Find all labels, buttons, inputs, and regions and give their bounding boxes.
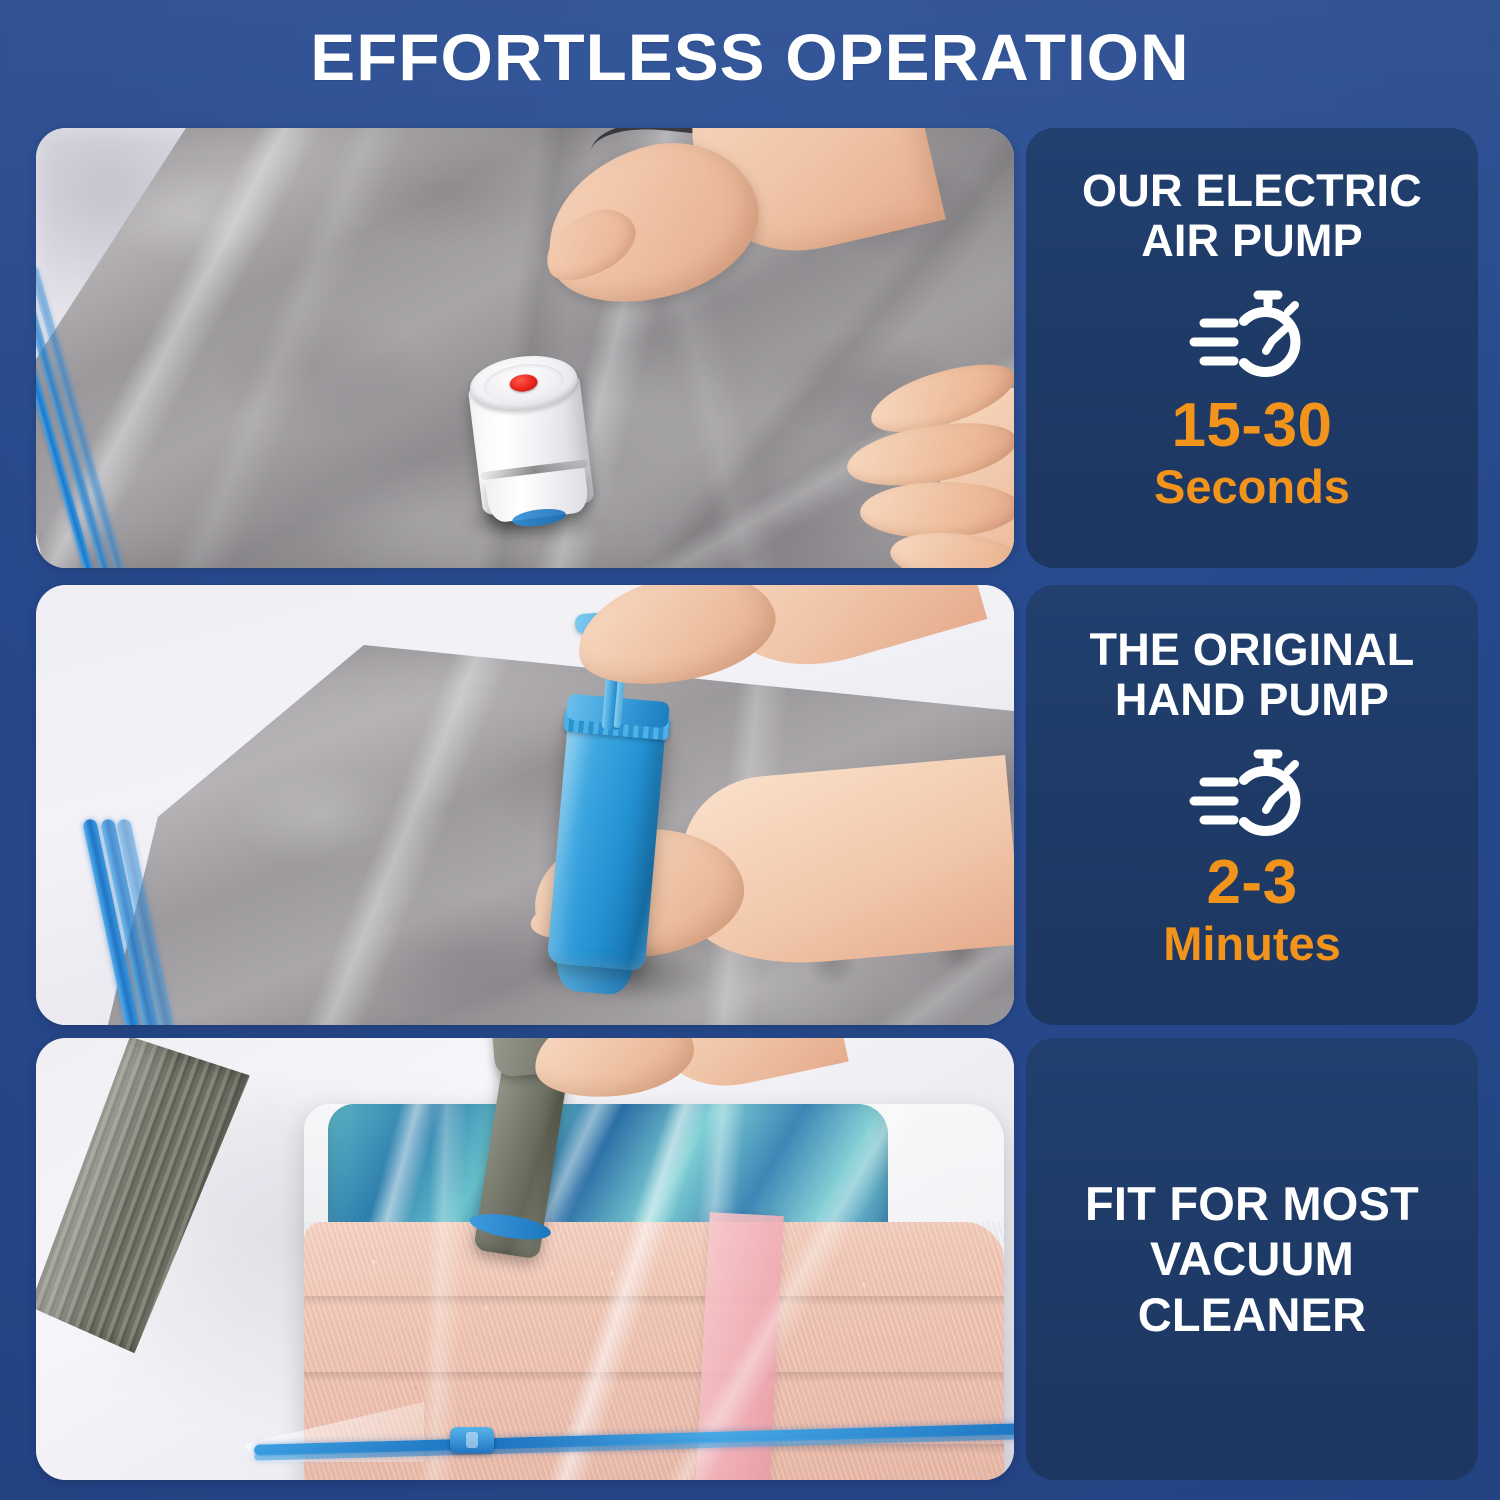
panel-heading-line-2: VACUUM <box>1150 1232 1354 1285</box>
palm <box>567 585 784 701</box>
pump-barrel <box>547 714 666 972</box>
operating-hand <box>544 128 844 378</box>
panel-heading-line-1: THE ORIGINAL <box>1090 624 1415 675</box>
upper-hand-pulling-handle <box>576 585 936 733</box>
panel-heading-line-3: CLEANER <box>1138 1288 1367 1341</box>
stopwatch-speed-icon <box>1188 279 1316 383</box>
text-card-hand-pump: THE ORIGINAL HAND PUMP 2-3 Minutes <box>1026 585 1478 1025</box>
panel-heading: OUR ELECTRIC AIR PUMP <box>1074 166 1430 265</box>
feature-row-vacuum-cleaner: FIT FOR MOST VACUUM CLEANER <box>0 1038 1500 1480</box>
duration-unit: Minutes <box>1163 918 1341 970</box>
duration-value: 2-3 <box>1206 852 1297 914</box>
palm <box>529 1038 699 1107</box>
page-title: EFFORTLESS OPERATION <box>0 24 1500 90</box>
text-card-electric-air-pump: OUR ELECTRIC AIR PUMP 15-30 Seconds <box>1026 128 1478 568</box>
photo-card-electric-air-pump <box>36 128 1014 568</box>
photo-electric-air-pump <box>36 128 1014 568</box>
duration-value: 15-30 <box>1171 395 1332 457</box>
duration-unit: Seconds <box>1154 461 1350 513</box>
panel-heading: THE ORIGINAL HAND PUMP <box>1082 625 1423 724</box>
photo-card-vacuum-cleaner <box>36 1038 1014 1480</box>
infographic-root: EFFORTLESS OPERATION <box>0 0 1500 1500</box>
feature-row-hand-pump: THE ORIGINAL HAND PUMP 2-3 Minutes <box>0 585 1500 1025</box>
feature-row-electric-air-pump: OUR ELECTRIC AIR PUMP 15-30 Seconds <box>0 128 1500 568</box>
zipper-slider-clip <box>450 1427 494 1453</box>
supporting-hand <box>794 378 1014 568</box>
photo-vacuum-cleaner <box>36 1038 1014 1480</box>
panel-heading-line-1: OUR ELECTRIC <box>1082 165 1422 216</box>
panel-heading: FIT FOR MOST VACUUM CLEANER <box>1077 1176 1427 1342</box>
text-card-vacuum-cleaner: FIT FOR MOST VACUUM CLEANER <box>1026 1038 1478 1480</box>
stopwatch-speed-icon <box>1188 738 1316 842</box>
bag-zipper-seal <box>254 1426 1014 1452</box>
photo-card-hand-pump <box>36 585 1014 1025</box>
bag-zipper-seal <box>82 821 332 1025</box>
hand-holding-nozzle <box>534 1038 754 1122</box>
panel-heading-line-2: HAND PUMP <box>1115 674 1389 725</box>
panel-heading-line-2: AIR PUMP <box>1141 215 1363 266</box>
panel-heading-line-1: FIT FOR MOST <box>1085 1177 1419 1230</box>
photo-hand-pump <box>36 585 1014 1025</box>
